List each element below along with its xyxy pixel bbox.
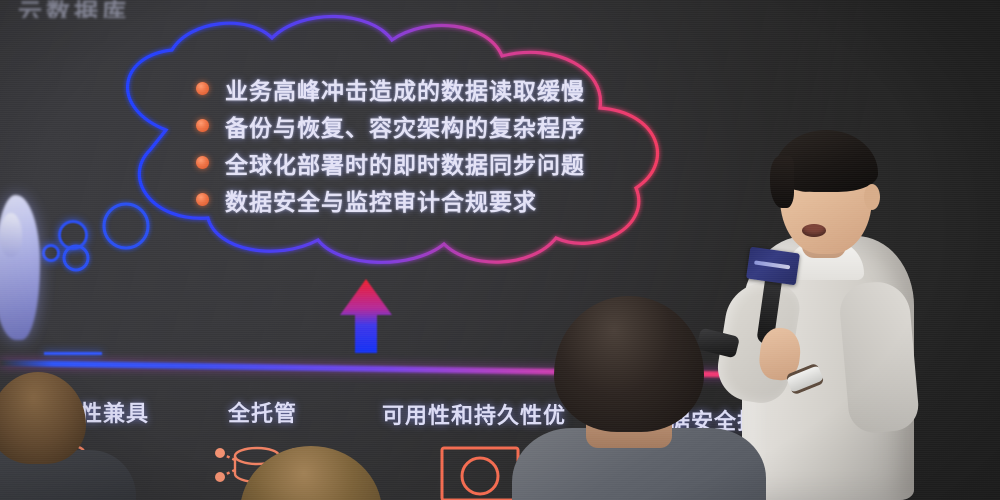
blue-accent-line bbox=[44, 352, 102, 355]
avatar-figure-icon bbox=[0, 195, 40, 340]
bullet-dot-icon bbox=[196, 193, 209, 206]
bullet-row: 数据安全与监控审计合规要求 bbox=[196, 181, 616, 218]
audience-head bbox=[554, 296, 704, 432]
microphone-flag bbox=[746, 247, 800, 286]
presenter-right-arm bbox=[838, 279, 921, 435]
bullet-row: 业务高峰冲击造成的数据读取缓慢 bbox=[196, 70, 616, 107]
presentation-photo: 云数据库 bbox=[0, 0, 1000, 500]
feature-label-managed: 全托管 bbox=[228, 396, 297, 428]
slide-bullet-list: 业务高峰冲击造成的数据读取缓慢 备份与恢复、容灾架构的复杂程序 全球化部署时的即… bbox=[196, 70, 616, 218]
bullet-text: 业务高峰冲击造成的数据读取缓慢 bbox=[225, 72, 585, 106]
audience-member-front bbox=[528, 296, 748, 500]
presenter-hair bbox=[774, 130, 878, 192]
up-arrow-icon bbox=[338, 277, 394, 355]
audience-head bbox=[0, 372, 86, 464]
bullet-row: 备份与恢复、容灾架构的复杂程序 bbox=[196, 107, 616, 144]
bullet-text: 备份与恢复、容灾架构的复杂程序 bbox=[225, 109, 585, 143]
audience-member-left bbox=[0, 372, 110, 500]
audience-member-blond bbox=[228, 446, 398, 500]
bullet-text: 数据安全与监控审计合规要求 bbox=[225, 183, 537, 217]
audience-head bbox=[240, 446, 382, 500]
bullet-dot-icon bbox=[196, 119, 209, 132]
bullet-text: 全球化部署时的即时数据同步问题 bbox=[225, 146, 585, 180]
presenter-mouth bbox=[802, 224, 826, 237]
bullet-row: 全球化部署时的即时数据同步问题 bbox=[196, 144, 616, 181]
bullet-dot-icon bbox=[196, 82, 209, 95]
thought-bubble-circle-medium bbox=[58, 220, 88, 250]
bullet-dot-icon bbox=[196, 156, 209, 169]
thought-bubble-circle-small bbox=[42, 244, 60, 262]
presenter-ear bbox=[864, 184, 880, 210]
